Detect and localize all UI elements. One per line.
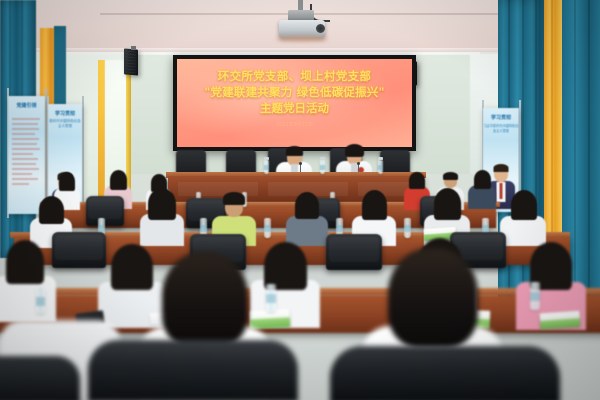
projection-screen: 环交所党支部、坝上村党支部 "党建联建共聚力 绿色低碳促振兴" 主题党日活动 2… [177, 59, 412, 147]
projector-lens-icon [316, 24, 325, 33]
attendee-hair [474, 170, 491, 189]
projector-glow [276, 36, 328, 41]
banner-subline: 新时代中国特色社会主义思想 [48, 119, 82, 129]
chair [86, 196, 124, 226]
banner-subline: 习近平新时代中国特色社会主义思想 [483, 123, 519, 133]
screen-title-line-3: 主题党日活动 [177, 101, 412, 115]
banner-headline: 党建引领 [8, 102, 45, 109]
green-booklet [539, 311, 580, 330]
bottle-cap [378, 157, 383, 160]
bottle-label [336, 225, 343, 232]
water-bottle [320, 160, 325, 174]
speaker-grill [126, 51, 136, 74]
attendee-hair [59, 172, 75, 191]
microphone-head-icon [299, 162, 302, 165]
banner-headline: 学习贯彻 [48, 110, 82, 117]
water-bottle [378, 160, 383, 174]
speaker-2-hair [345, 144, 364, 157]
attendee-hair [443, 172, 458, 180]
bottle-cap [320, 157, 325, 160]
bottle-label [482, 225, 489, 232]
attendee-hair [511, 190, 537, 220]
attendee-hair [409, 172, 425, 189]
curtain-fold [588, 0, 590, 300]
bottle-label [264, 165, 269, 170]
attendee-hair [362, 190, 387, 220]
speaker-bracket-left [131, 46, 136, 50]
attendee [468, 170, 496, 208]
bottle-label [98, 225, 105, 232]
attendee-hair [264, 242, 307, 290]
bottle-label [264, 225, 271, 232]
attendee-hair [39, 196, 64, 224]
speaker-1-hair [286, 146, 303, 156]
water-bottle [264, 160, 269, 174]
screen-title-line-1: 环交所党支部、坝上村党支部 [177, 69, 412, 83]
attendee-hair [148, 188, 176, 220]
foreground-attendee-hair [162, 252, 248, 348]
microphone-head-icon [357, 162, 360, 165]
bottle-label [320, 165, 325, 170]
wall-speaker-left-icon [124, 48, 138, 75]
meeting-room-photo: 环交所党支部、坝上村党支部 "党建联建共聚力 绿色低碳促振兴" 主题党日活动 2… [0, 0, 600, 400]
bottle-label [378, 165, 383, 170]
screen-title-line-2: "党建联建共聚力 绿色低碳促振兴" [177, 85, 412, 99]
attendee-hair [223, 192, 245, 205]
bottle-label [404, 225, 411, 232]
attendee-hair [6, 240, 44, 284]
screen-date-line: 2023年9月15日 [177, 122, 412, 128]
bottle-label [530, 292, 540, 301]
water-bottle [404, 218, 411, 238]
attendee-hair [110, 170, 127, 190]
foreground-attendee-hair [388, 248, 478, 348]
attendee [286, 192, 328, 244]
attendee-hair [295, 192, 319, 219]
bottle-label [200, 225, 207, 232]
water-bottle [264, 218, 271, 238]
bottle-cap [264, 157, 269, 160]
banner-headline: 学习贯彻 [483, 114, 519, 121]
chair [88, 340, 298, 400]
attendee [140, 188, 184, 244]
attendee [500, 190, 546, 244]
water-bottle [530, 282, 540, 310]
banner-body-text [12, 118, 41, 188]
chair [0, 356, 80, 400]
attendee-hair [434, 188, 461, 220]
chair [330, 346, 560, 400]
